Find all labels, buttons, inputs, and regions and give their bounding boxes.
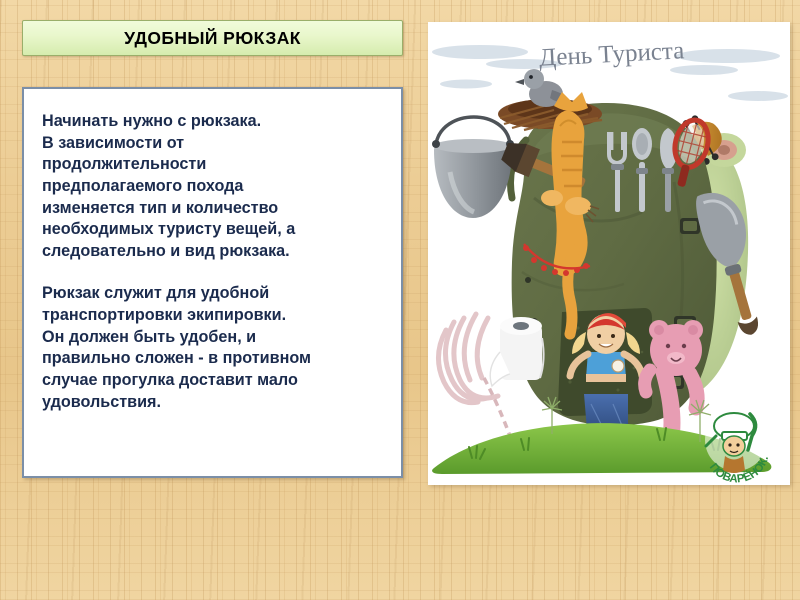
paragraph-1: Начинать нужно с рюкзака. В зависимости … bbox=[42, 111, 385, 262]
body-text-card: Начинать нужно с рюкзака. В зависимости … bbox=[22, 87, 403, 478]
slide-canvas: УДОБНЫЙ РЮКЗАК Начинать нужно с рюкзака.… bbox=[0, 0, 800, 600]
page-title: УДОБНЫЙ РЮКЗАК bbox=[124, 28, 301, 49]
illustration-panel: День Туриста bbox=[428, 22, 790, 485]
tourist-day-illustration: День Туриста bbox=[428, 22, 790, 485]
paragraph-2: Рюкзак служит для удобной транспортировк… bbox=[42, 283, 385, 413]
slide-title-bar: УДОБНЫЙ РЮКЗАК bbox=[22, 20, 403, 56]
